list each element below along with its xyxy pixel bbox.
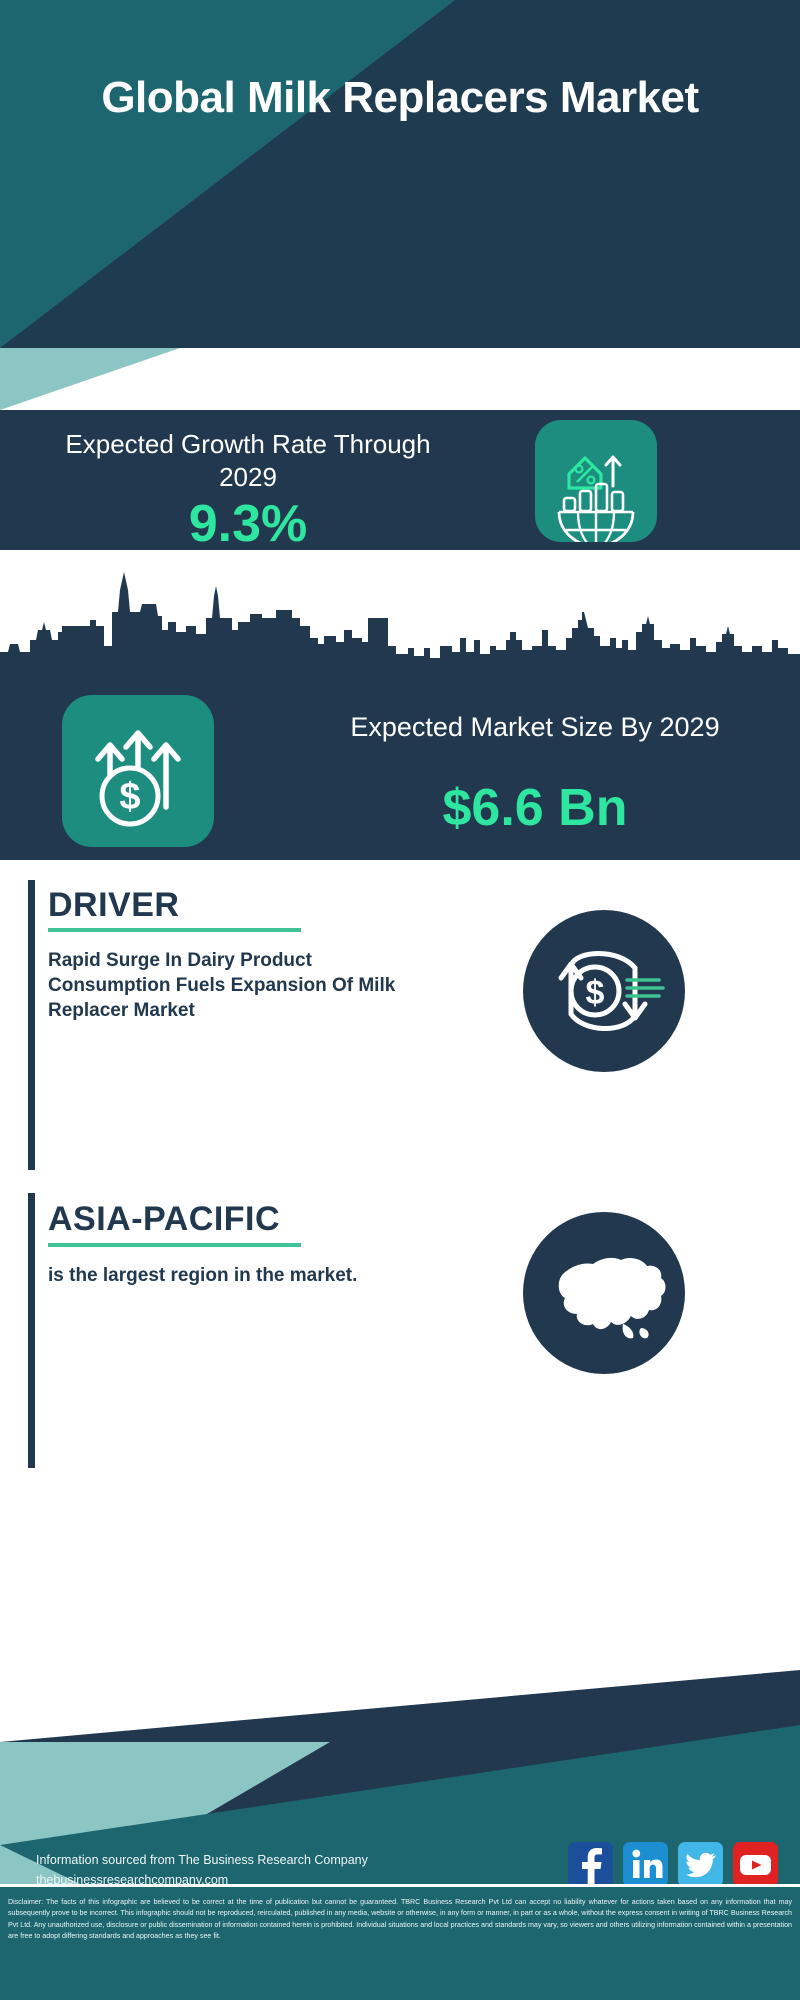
dollar-growth-arrows-icon: $	[62, 695, 214, 847]
market-size-label: Expected Market Size By 2029	[300, 710, 770, 744]
driver-card-underline	[48, 928, 301, 932]
twitter-icon[interactable]	[678, 1842, 723, 1887]
growth-rate-label: Expected Growth Rate Through 2029	[48, 428, 448, 494]
region-card-underline	[48, 1243, 301, 1247]
driver-card-bar	[28, 880, 35, 1170]
facebook-icon[interactable]	[568, 1842, 613, 1887]
youtube-glyph	[733, 1842, 778, 1887]
header-teal-triangle	[0, 0, 800, 348]
disclaimer-text: Disclaimer: The facts of this infographi…	[0, 1884, 800, 2000]
svg-text:$: $	[586, 974, 605, 1012]
market-size-value: $6.6 Bn	[300, 782, 770, 834]
linkedin-glyph	[623, 1842, 668, 1887]
dollar-circular-arrows-icon: $	[523, 910, 685, 1072]
page-title: Global Milk Replacers Market	[0, 72, 800, 123]
asia-map-svg	[523, 1212, 685, 1374]
growth-rate-value: 9.3%	[48, 498, 448, 550]
twitter-glyph	[678, 1842, 723, 1887]
market-size-section: $ Expected Market Size By 2029 $6.6 Bn	[0, 550, 800, 860]
insight-cards: DRIVER Rapid Surge In Dairy Product Cons…	[0, 860, 800, 1670]
region-card-title: ASIA-PACIFIC	[48, 1202, 280, 1236]
svg-text:$: $	[119, 776, 140, 818]
social-links	[568, 1842, 778, 1887]
region-card-body: is the largest region in the market.	[48, 1263, 438, 1288]
header-banner: Global Milk Replacers Market	[0, 0, 800, 348]
linkedin-icon[interactable]	[623, 1842, 668, 1887]
header-accent-triangle	[0, 348, 240, 410]
header-bottom-accent	[0, 348, 800, 410]
footer-source-line1: Information sourced from The Business Re…	[36, 1850, 368, 1870]
growth-percent-globe-svg	[535, 420, 657, 542]
infographic-page: Global Milk Replacers Market Expected Gr…	[0, 0, 800, 2000]
driver-card-title: DRIVER	[48, 888, 179, 922]
dollar-growth-arrows-svg: $	[62, 695, 214, 847]
growth-rate-section: Expected Growth Rate Through 2029 9.3%	[0, 410, 800, 550]
dollar-circular-arrows-svg: $	[523, 910, 685, 1072]
growth-percent-globe-icon	[535, 420, 657, 542]
driver-card-body: Rapid Surge In Dairy Product Consumption…	[48, 948, 438, 1023]
asia-map-globe-icon	[523, 1212, 685, 1374]
youtube-icon[interactable]	[733, 1842, 778, 1887]
city-skyline-icon	[0, 560, 800, 670]
region-card-bar	[28, 1193, 35, 1468]
facebook-glyph	[568, 1842, 613, 1887]
